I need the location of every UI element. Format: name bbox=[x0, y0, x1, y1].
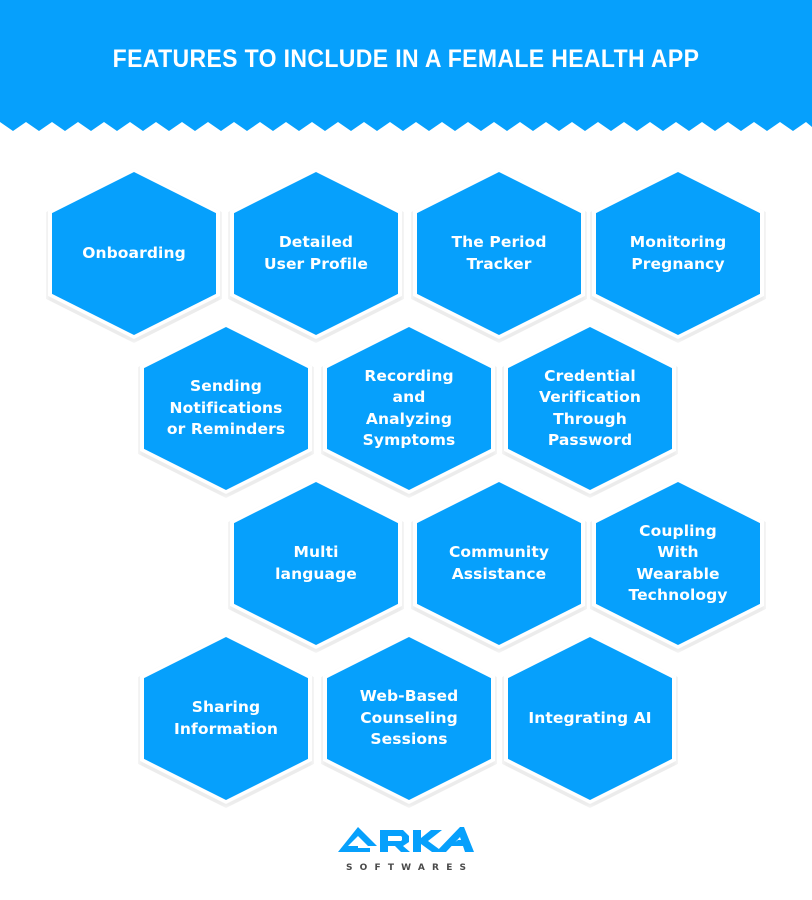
feature-hexagon[interactable]: Web-Based Counseling Sessions bbox=[327, 637, 491, 800]
feature-hexagon[interactable]: Recording and Analyzing Symptoms bbox=[327, 327, 491, 490]
feature-label: Coupling With Wearable Technology bbox=[616, 521, 740, 607]
header-banner: FEATURES TO INCLUDE IN A FEMALE HEALTH A… bbox=[0, 0, 812, 131]
feature-label: Monitoring Pregnancy bbox=[630, 232, 727, 275]
feature-label: Sharing Information bbox=[174, 697, 278, 740]
feature-hexagon[interactable]: Monitoring Pregnancy bbox=[596, 172, 760, 335]
zigzag-edge-decoration bbox=[0, 118, 812, 131]
feature-hexagon[interactable]: Sharing Information bbox=[144, 637, 308, 800]
feature-label: Recording and Analyzing Symptoms bbox=[347, 366, 471, 452]
feature-label: Credential Verification Through Password bbox=[539, 366, 641, 452]
feature-label: Multi language bbox=[275, 542, 357, 585]
feature-label: Integrating AI bbox=[528, 708, 651, 729]
feature-hexagon[interactable]: Community Assistance bbox=[417, 482, 581, 645]
feature-hexagon[interactable]: Onboarding bbox=[52, 172, 216, 335]
feature-hexagon[interactable]: Integrating AI bbox=[508, 637, 672, 800]
feature-label: Community Assistance bbox=[449, 542, 549, 585]
feature-hexagon[interactable]: Credential Verification Through Password bbox=[508, 327, 672, 490]
feature-hexagon[interactable]: Multi language bbox=[234, 482, 398, 645]
logo-subtitle: SOFTWARES bbox=[339, 863, 473, 873]
feature-hexagon[interactable]: Coupling With Wearable Technology bbox=[596, 482, 760, 645]
feature-hexagon[interactable]: Sending Notifications or Reminders bbox=[144, 327, 308, 490]
feature-label: Web-Based Counseling Sessions bbox=[360, 686, 459, 750]
arka-wordmark-icon bbox=[338, 826, 474, 860]
feature-hexagon[interactable]: Detailed User Profile bbox=[234, 172, 398, 335]
feature-hexagon[interactable]: The Period Tracker bbox=[417, 172, 581, 335]
feature-label: Detailed User Profile bbox=[264, 232, 368, 275]
brand-logo: SOFTWARES bbox=[0, 826, 812, 890]
feature-hex-grid: OnboardingDetailed User ProfileThe Perio… bbox=[0, 131, 812, 821]
feature-label: Sending Notifications or Reminders bbox=[167, 376, 285, 440]
feature-label: Onboarding bbox=[82, 243, 186, 264]
feature-label: The Period Tracker bbox=[451, 232, 546, 275]
page-title: FEATURES TO INCLUDE IN A FEMALE HEALTH A… bbox=[32, 0, 779, 118]
